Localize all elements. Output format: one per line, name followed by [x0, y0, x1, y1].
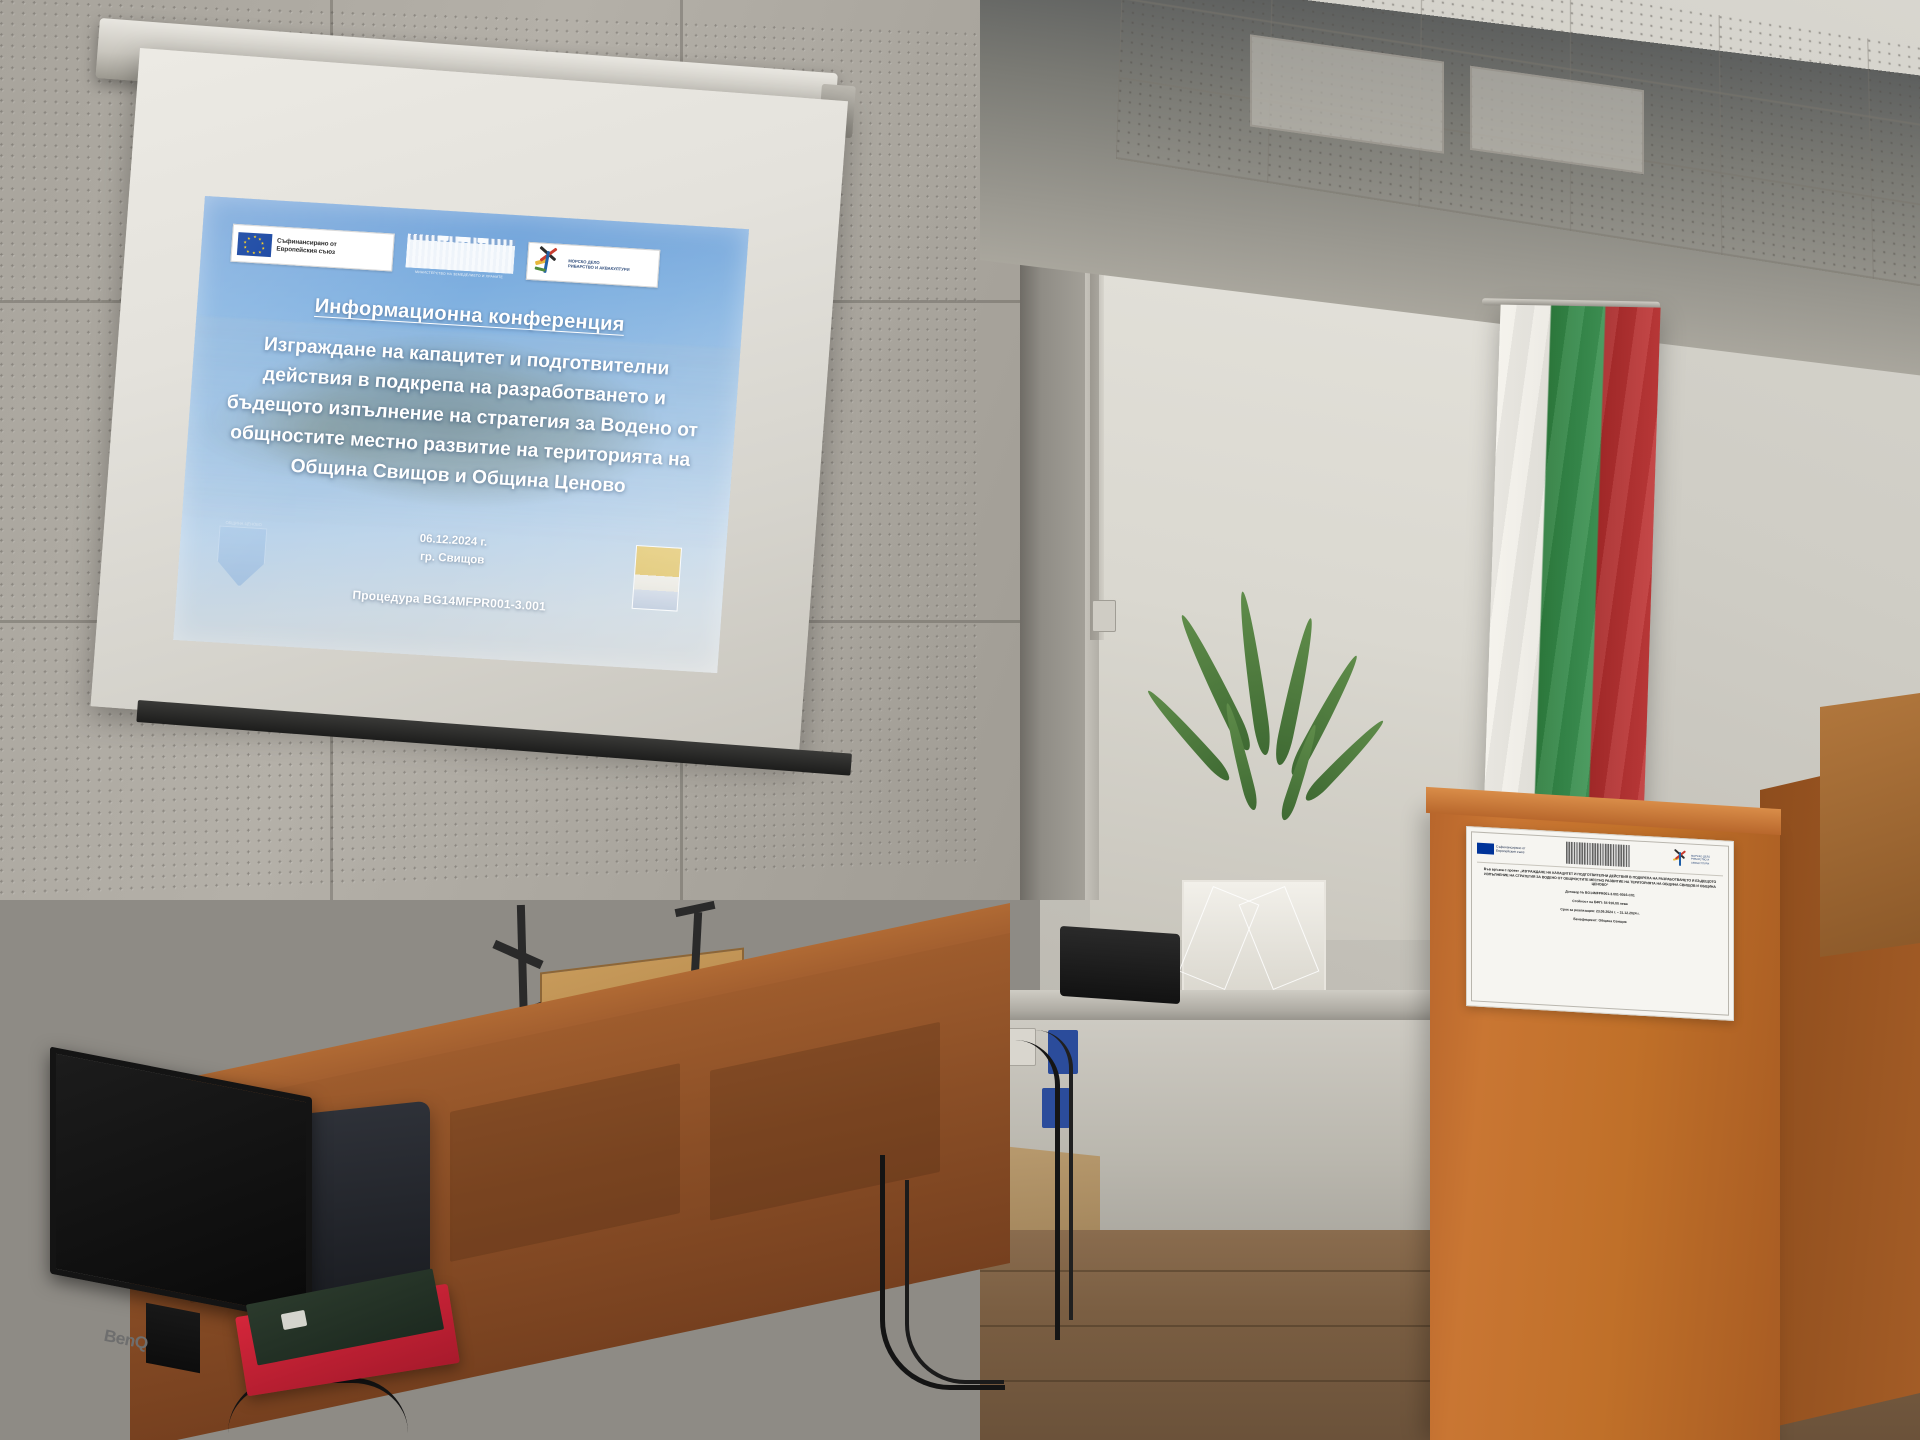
poster-ministry-icon: [1566, 842, 1630, 868]
speaker-equipment: [1060, 926, 1180, 1004]
flag-folds: [1483, 305, 1660, 828]
svishtov-coat-of-arms: [628, 545, 685, 620]
slide-body: Изграждане на капацитет и подготвителни …: [201, 327, 724, 508]
background-furniture: [1820, 693, 1920, 957]
poster-eu-flag-icon: [1477, 842, 1494, 854]
light-switch[interactable]: [1092, 600, 1116, 632]
eu-flag-icon: ★ ★ ★ ★ ★ ★ ★ ★ ★ ★: [237, 232, 273, 257]
poster-body: Във връзка с проект „ИЗГРАЖДАНЕ НА КАПАЦ…: [1477, 863, 1723, 1011]
monitor-screen[interactable]: [50, 1047, 312, 1325]
poster-eu-logo: Съфинансирано от Европейския съюз: [1477, 842, 1525, 856]
ministry-building-icon: [405, 233, 515, 274]
podium-project-poster: Съфинансирано от Европейския съюз МОРСКО…: [1466, 826, 1734, 1021]
poster-program-logo: МОРСКО ДЕЛО РИБАРСТВО И АКВАКУЛТУРИ: [1671, 848, 1723, 871]
program-logo: МОРСКО ДЕЛО РИБАРСТВО И АКВАКУЛТУРИ: [526, 242, 660, 288]
poster-eu-label: Съфинансирано от Европейския съюз: [1496, 845, 1525, 855]
monitor-stand: [146, 1303, 200, 1373]
program-x-icon: [532, 248, 564, 276]
wall-cable: [1035, 1030, 1073, 1320]
slide-logo-row: ★ ★ ★ ★ ★ ★ ★ ★ ★ ★ Съфинансирано от Евр…: [230, 212, 719, 303]
benq-logo: BenQ: [104, 1326, 147, 1354]
program-label: МОРСКО ДЕЛО РИБАРСТВО И АКВАКУЛТУРИ: [568, 258, 630, 272]
poster-program-label: МОРСКО ДЕЛО РИБАРСТВО И АКВАКУЛТУРИ: [1691, 855, 1723, 866]
bulgarian-flag: [1483, 305, 1660, 828]
tsenovo-coat-of-arms: ОБЩИНА ЦЕНОВО: [213, 519, 270, 594]
planter-box: [1182, 880, 1326, 1002]
conference-room-photo: ★ ★ ★ ★ ★ ★ ★ ★ ★ ★ Съфинансирано от Евр…: [0, 0, 1920, 1440]
ministry-building-logo: МИНИСТЕРСТВО НА ЗЕМЕДЕЛИЕТО И ХРАНИТЕ: [400, 233, 521, 280]
cable-run: [905, 1180, 1004, 1384]
tsenovo-shield-icon: [215, 525, 267, 588]
eu-cofinanced-label: Съфинансирано от Европейския съюз: [276, 238, 337, 257]
poster-x-icon: [1671, 850, 1689, 868]
eu-cofinanced-logo: ★ ★ ★ ★ ★ ★ ★ ★ ★ ★ Съфинансирано от Евр…: [230, 224, 394, 272]
svishtov-shield-icon: [632, 545, 682, 612]
presentation-slide: ★ ★ ★ ★ ★ ★ ★ ★ ★ ★ Съфинансирано от Евр…: [173, 196, 749, 673]
